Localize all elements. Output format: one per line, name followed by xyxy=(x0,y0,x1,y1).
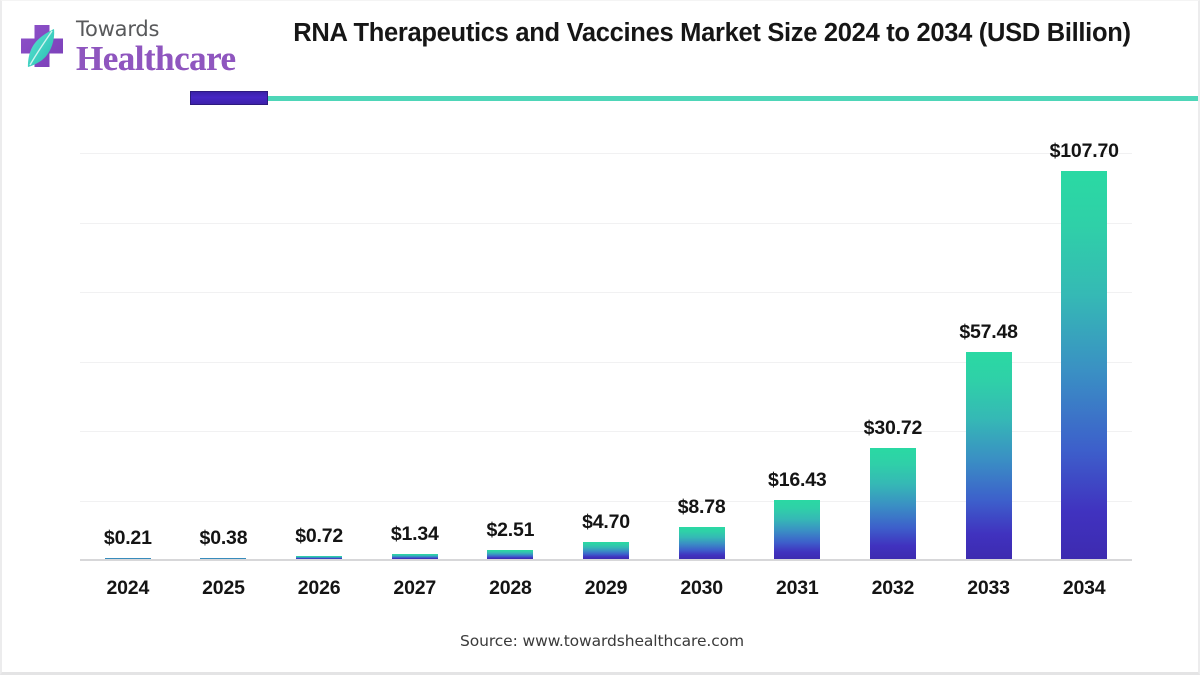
bar[interactable] xyxy=(1061,171,1107,559)
divider-indigo-block xyxy=(190,91,268,105)
chart-x-axis-line xyxy=(80,559,1132,561)
bar[interactable] xyxy=(583,542,629,559)
bar[interactable] xyxy=(966,352,1012,559)
bar[interactable] xyxy=(487,550,533,559)
brand-logo-text: Towards Healthcare xyxy=(76,17,246,77)
header: Towards Healthcare RNA Therapeutics and … xyxy=(2,1,1200,113)
bar-group: $0.72 xyxy=(271,141,367,559)
bar-group: $2.51 xyxy=(463,141,559,559)
header-divider xyxy=(2,91,1200,105)
source-caption: Source: www.towardshealthcare.com xyxy=(2,632,1200,650)
bar-group: $8.78 xyxy=(654,141,750,559)
bar-value-label: $57.48 xyxy=(931,321,1047,344)
brand-logo[interactable]: Towards Healthcare xyxy=(16,15,236,81)
bar-group: $0.21 xyxy=(80,141,176,559)
bar-group: $30.72 xyxy=(845,141,941,559)
chart-infographic: Towards Healthcare RNA Therapeutics and … xyxy=(0,0,1200,675)
bar-value-label: $107.70 xyxy=(1026,140,1142,163)
bar-group: $57.48 xyxy=(941,141,1037,559)
bar-group: $1.34 xyxy=(367,141,463,559)
bar-group: $4.70 xyxy=(558,141,654,559)
page-title: RNA Therapeutics and Vaccines Market Siz… xyxy=(282,17,1142,49)
chart-plot-area: $0.21$0.38$0.72$1.34$2.51$4.70$8.78$16.4… xyxy=(80,141,1132,561)
bar[interactable] xyxy=(870,448,916,559)
divider-teal-line xyxy=(190,96,1200,101)
brand-name-bottom: Healthcare xyxy=(76,41,246,77)
bar-group: $107.70 xyxy=(1036,141,1132,559)
bar-group: $0.38 xyxy=(176,141,272,559)
x-axis-tick-2034: 2034 xyxy=(1026,577,1142,600)
brand-name-top: Towards xyxy=(76,17,246,41)
bar-value-label: $16.43 xyxy=(739,469,855,492)
bar-value-label: $8.78 xyxy=(644,496,760,519)
bar-value-label: $30.72 xyxy=(835,417,951,440)
cross-leaf-logo-icon xyxy=(16,21,72,77)
bar[interactable] xyxy=(774,500,820,559)
bar-group: $16.43 xyxy=(749,141,845,559)
bar[interactable] xyxy=(679,527,725,559)
